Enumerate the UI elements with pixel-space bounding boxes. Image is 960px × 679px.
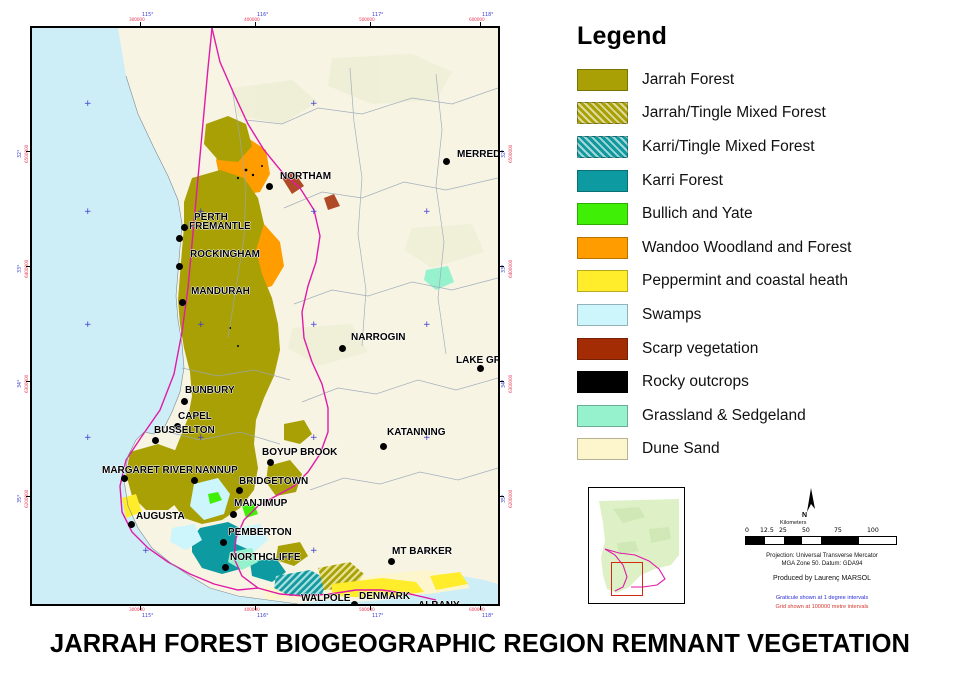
- graticule-cross: +: [84, 100, 92, 109]
- legend-swatch: [577, 270, 628, 292]
- grid-tick: [140, 22, 141, 26]
- scale-bar: [745, 536, 897, 545]
- legend-item[interactable]: Wandoo Woodland and Forest: [572, 231, 952, 265]
- city-marker[interactable]: [236, 487, 243, 494]
- graticule-cross: +: [310, 434, 318, 443]
- city-label: LAKE GRACE: [456, 355, 500, 366]
- scale-tick-label: 50: [802, 527, 810, 534]
- city-label: MANJIMUP: [234, 498, 287, 509]
- legend-item[interactable]: Peppermint and coastal heath: [572, 265, 952, 299]
- legend-swatch: [577, 102, 628, 124]
- legend-item-label: Wandoo Woodland and Forest: [642, 239, 851, 257]
- city-label: CAPEL: [178, 411, 212, 422]
- degree-label-left: 34°: [18, 379, 23, 388]
- city-marker[interactable]: [222, 564, 229, 571]
- city-label: PEMBERTON: [228, 527, 292, 538]
- grid-label-top: 600000: [469, 18, 485, 23]
- legend-swatch: [577, 170, 628, 192]
- legend-item-label: Karri/Tingle Mixed Forest: [642, 138, 815, 156]
- city-marker[interactable]: [266, 183, 273, 190]
- city-marker[interactable]: [176, 263, 183, 270]
- legend-item-label: Grassland & Sedgeland: [642, 407, 806, 425]
- graticule-note: Graticule shown at 1 degree intervals: [722, 595, 922, 601]
- city-marker[interactable]: [152, 437, 159, 444]
- inset-extent-rectangle: [611, 562, 643, 596]
- city-label: BOYUP BROOK: [262, 447, 337, 458]
- city-label: WALPOLE: [301, 593, 350, 604]
- city-marker[interactable]: [230, 511, 237, 518]
- city-label: NORTHCLIFFE: [230, 552, 301, 563]
- vegetation-map-graphic: [32, 28, 498, 604]
- city-label: BUSSELTON: [154, 425, 215, 436]
- city-label: KATANNING: [387, 427, 446, 438]
- legend-item[interactable]: Rocky outcrops: [572, 365, 952, 399]
- graticule-cross: +: [142, 547, 150, 556]
- grid-tick: [255, 22, 256, 26]
- legend-swatch: [577, 69, 628, 91]
- legend-panel: Legend Jarrah ForestJarrah/Tingle Mixed …: [572, 22, 952, 466]
- scale-tick-label: 100: [867, 527, 879, 534]
- grid-label-right: 6200000: [509, 490, 514, 508]
- graticule-cross: +: [84, 434, 92, 443]
- graticule-cross: +: [84, 321, 92, 330]
- page-title: JARRAH FOREST BIOGEOGRAPHIC REGION REMNA…: [0, 630, 960, 659]
- map-frame[interactable]: + + + + + + + + + + + + + + + + + MERRED…: [30, 26, 500, 606]
- legend-item[interactable]: Grassland & Sedgeland: [572, 399, 952, 433]
- locator-inset-map[interactable]: [588, 487, 685, 604]
- city-label: MT BARKER: [392, 546, 452, 557]
- grid-tick: [26, 266, 30, 267]
- grid-tick: [480, 22, 481, 26]
- city-marker[interactable]: [380, 443, 387, 450]
- degree-label-right: 32°: [502, 149, 507, 158]
- city-marker[interactable]: [351, 601, 358, 607]
- legend-swatch: [577, 338, 628, 360]
- degree-label-top: 117°: [372, 13, 384, 18]
- city-label: BUNBURY: [185, 385, 235, 396]
- city-marker[interactable]: [220, 539, 227, 546]
- map-page: + + + + + + + + + + + + + + + + + MERRED…: [0, 0, 960, 679]
- legend-item[interactable]: Bullich and Yate: [572, 197, 952, 231]
- grid-tick: [255, 606, 256, 610]
- degree-label-bottom: 118°: [482, 614, 494, 619]
- graticule-cross: +: [423, 321, 431, 330]
- scale-tick-label: 0: [745, 527, 749, 534]
- degree-label-right: 34°: [502, 379, 507, 388]
- city-label: FREMANTLE: [189, 221, 251, 232]
- degree-label-top: 116°: [257, 13, 269, 18]
- grid-note: Grid shown at 100000 metre intervals: [722, 604, 922, 610]
- degree-label-bottom: 115°: [142, 614, 154, 619]
- grid-label-bottom: 500000: [359, 608, 375, 613]
- degree-label-right: 33°: [502, 264, 507, 273]
- grid-label-right: 6500000: [509, 145, 514, 163]
- graticule-cross: +: [310, 547, 318, 556]
- legend-item-label: Peppermint and coastal heath: [642, 272, 848, 290]
- scale-tick-label: 25: [779, 527, 787, 534]
- legend-item-label: Rocky outcrops: [642, 373, 749, 391]
- grid-label-bottom: 600000: [469, 608, 485, 613]
- city-marker[interactable]: [339, 345, 346, 352]
- legend-item[interactable]: Karri Forest: [572, 164, 952, 198]
- grid-label-left: 6500000: [25, 145, 30, 163]
- graticule-cross: +: [423, 208, 431, 217]
- grid-label-left: 6200000: [25, 490, 30, 508]
- city-label: NANNUP: [195, 465, 238, 476]
- grid-label-top: 300000: [129, 18, 145, 23]
- grid-label-top: 400000: [244, 18, 260, 23]
- city-marker[interactable]: [388, 558, 395, 565]
- legend-item-label: Bullich and Yate: [642, 205, 753, 223]
- city-marker[interactable]: [181, 224, 188, 231]
- grid-label-top: 500000: [359, 18, 375, 23]
- scale-tick-label: 75: [834, 527, 842, 534]
- grid-label-bottom: 300000: [129, 608, 145, 613]
- city-label: AUGUSTA: [136, 511, 185, 522]
- legend-swatch: [577, 304, 628, 326]
- legend-item[interactable]: Swamps: [572, 298, 952, 332]
- city-marker[interactable]: [176, 235, 183, 242]
- city-marker[interactable]: [128, 521, 135, 528]
- graticule-cross: +: [84, 208, 92, 217]
- legend-item[interactable]: Dune Sand: [572, 433, 952, 467]
- legend-item-label: Jarrah/Tingle Mixed Forest: [642, 104, 826, 122]
- city-marker[interactable]: [181, 398, 188, 405]
- graticule-cross: +: [197, 321, 205, 330]
- grid-tick: [140, 606, 141, 610]
- projection-line-2: MGA Zone 50. Datum: GDA94: [722, 561, 922, 567]
- grid-tick: [480, 606, 481, 610]
- city-marker[interactable]: [443, 158, 450, 165]
- legend-swatch: [577, 136, 628, 158]
- degree-label-bottom: 117°: [372, 614, 384, 619]
- grid-label-left: 6400000: [25, 260, 30, 278]
- degree-label-right: 35°: [502, 494, 507, 503]
- legend-swatch: [577, 203, 628, 225]
- city-marker[interactable]: [191, 477, 198, 484]
- grid-label-left: 6300000: [25, 375, 30, 393]
- city-label: MANDURAH: [191, 286, 250, 297]
- grid-tick: [370, 606, 371, 610]
- main-map-panel: + + + + + + + + + + + + + + + + + MERRED…: [22, 8, 512, 616]
- grid-tick: [370, 22, 371, 26]
- legend-item-label: Jarrah Forest: [642, 71, 734, 89]
- legend-swatch: [577, 405, 628, 427]
- city-label: ROCKINGHAM: [190, 249, 260, 260]
- city-label: BRIDGETOWN: [239, 476, 308, 487]
- city-label: MARGARET RIVER: [102, 465, 193, 476]
- north-arrow-icon: [800, 487, 822, 515]
- city-label: DENMARK: [359, 591, 410, 602]
- legend-item[interactable]: Scarp vegetation: [572, 332, 952, 366]
- legend-swatch: [577, 438, 628, 460]
- degree-label-left: 33°: [18, 264, 23, 273]
- grid-tick: [26, 381, 30, 382]
- legend-title: Legend: [577, 22, 952, 51]
- degree-label-left: 35°: [18, 494, 23, 503]
- legend-items: Jarrah ForestJarrah/Tingle Mixed ForestK…: [572, 63, 952, 466]
- scale-tick-label: 12.5: [760, 527, 774, 534]
- legend-item[interactable]: Jarrah Forest: [572, 63, 952, 97]
- degree-label-top: 115°: [142, 13, 154, 18]
- city-label: NORTHAM: [280, 171, 331, 182]
- producer-credit: Produced by Laurenç MARSOL: [722, 575, 922, 582]
- graticule-cross: +: [310, 100, 318, 109]
- city-label: MERREDIN: [457, 149, 500, 160]
- scale-and-credits: N Kilometers 012.5255075100 Projection: …: [722, 487, 922, 607]
- north-label: N: [802, 512, 807, 519]
- city-marker[interactable]: [179, 299, 186, 306]
- city-label: ALBANY: [418, 600, 460, 606]
- legend-item-label: Scarp vegetation: [642, 340, 758, 358]
- scale-unit-label: Kilometers: [780, 520, 806, 526]
- degree-label-bottom: 116°: [257, 614, 269, 619]
- legend-swatch: [577, 371, 628, 393]
- legend-item-label: Karri Forest: [642, 172, 723, 190]
- grid-label-right: 6300000: [509, 375, 514, 393]
- grid-tick: [26, 496, 30, 497]
- degree-label-top: 118°: [482, 13, 494, 18]
- legend-item[interactable]: Karri/Tingle Mixed Forest: [572, 130, 952, 164]
- city-marker[interactable]: [408, 605, 415, 607]
- degree-label-left: 32°: [18, 149, 23, 158]
- grid-label-bottom: 400000: [244, 608, 260, 613]
- graticule-cross: +: [310, 321, 318, 330]
- projection-line-1: Projection: Universal Transverse Mercato…: [722, 553, 922, 559]
- legend-item[interactable]: Jarrah/Tingle Mixed Forest: [572, 97, 952, 131]
- grid-label-right: 6400000: [509, 260, 514, 278]
- legend-swatch: [577, 237, 628, 259]
- city-marker[interactable]: [267, 459, 274, 466]
- grid-tick: [26, 151, 30, 152]
- graticule-cross: +: [310, 208, 318, 217]
- city-label: NARROGIN: [351, 332, 405, 343]
- legend-item-label: Swamps: [642, 306, 701, 324]
- legend-item-label: Dune Sand: [642, 440, 720, 458]
